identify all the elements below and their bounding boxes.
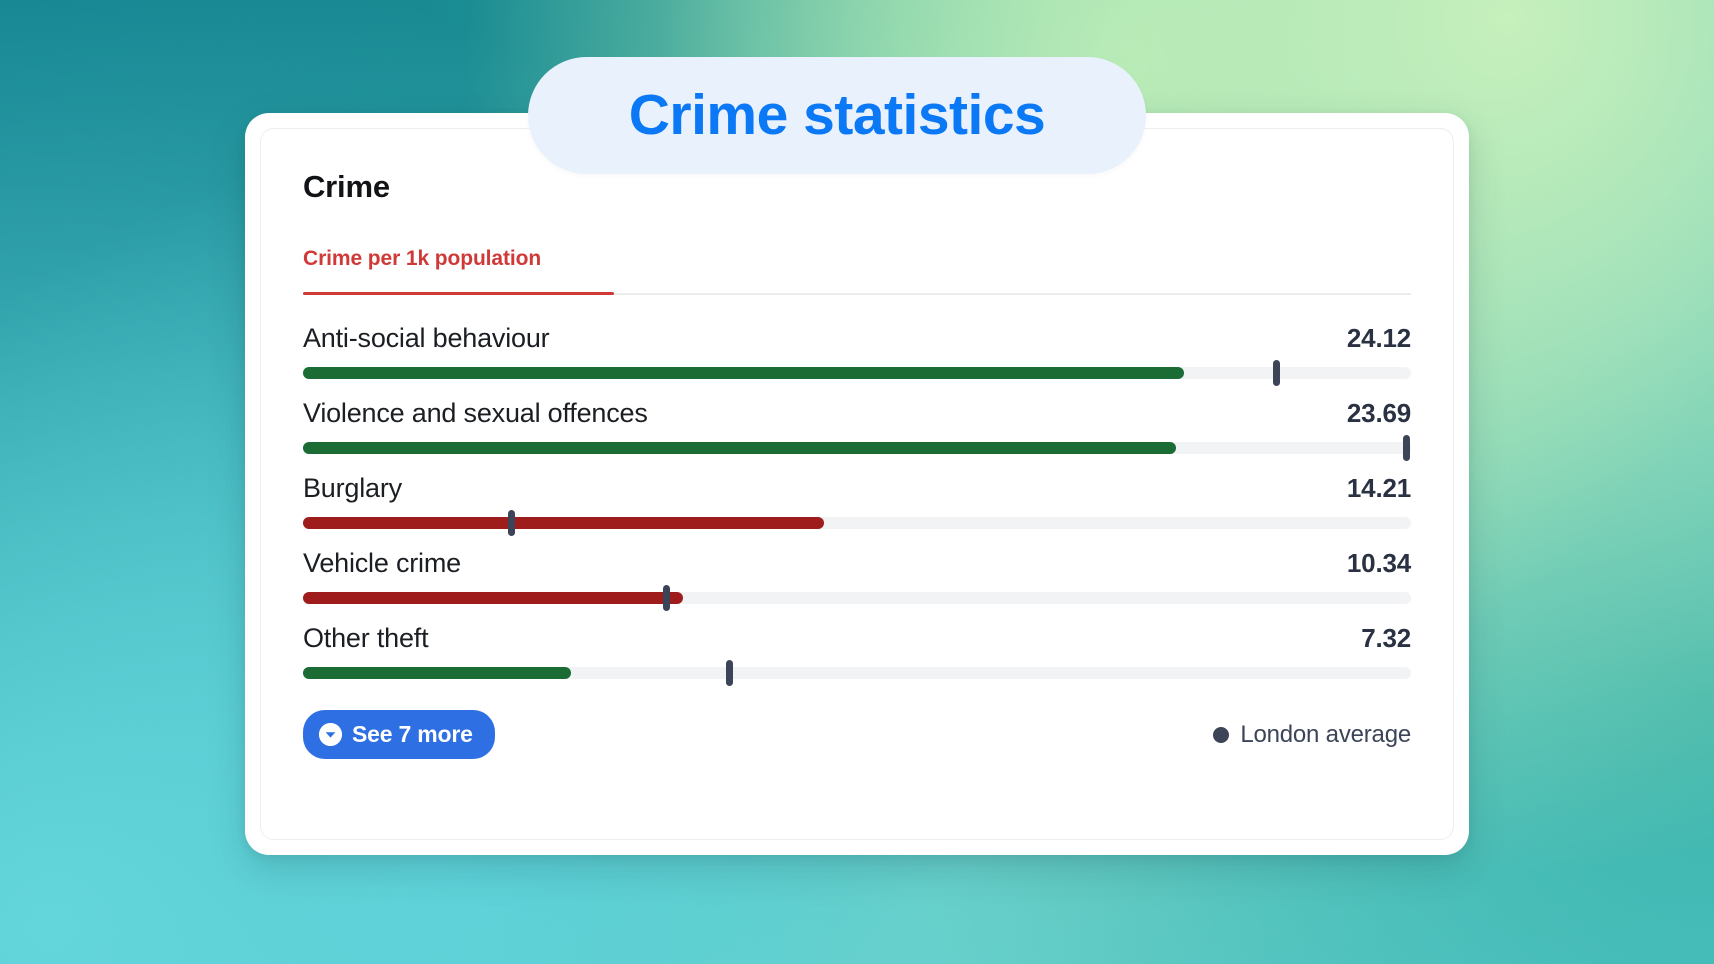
bar-fill xyxy=(303,517,824,529)
london-average-marker xyxy=(1273,360,1280,386)
crime-row-violence-and-sexual-offences: Violence and sexual offences 23.69 xyxy=(303,398,1411,459)
crime-row-value: 10.34 xyxy=(1347,548,1411,579)
crime-row-bar xyxy=(303,437,1411,459)
bar-fill xyxy=(303,667,571,679)
crime-row-label: Other theft xyxy=(303,623,428,654)
bar-track xyxy=(303,517,1411,529)
tab-crime-per-1k[interactable]: Crime per 1k population xyxy=(303,247,541,287)
crime-row-value: 14.21 xyxy=(1347,473,1411,504)
crime-row-value: 24.12 xyxy=(1347,323,1411,354)
london-average-marker xyxy=(1403,435,1410,461)
crime-row-label: Anti-social behaviour xyxy=(303,323,549,354)
crime-row-header: Vehicle crime 10.34 xyxy=(303,548,1411,579)
crime-row-bar xyxy=(303,512,1411,534)
tab-active-underline xyxy=(303,292,614,295)
page-background: Crime Crime per 1k population Anti-socia… xyxy=(0,0,1714,964)
crime-row-bar xyxy=(303,587,1411,609)
crime-row-burglary: Burglary 14.21 xyxy=(303,473,1411,534)
page-title: Crime xyxy=(303,169,1411,205)
bar-track xyxy=(303,367,1411,379)
crime-row-vehicle-crime: Vehicle crime 10.34 xyxy=(303,548,1411,609)
crime-row-header: Violence and sexual offences 23.69 xyxy=(303,398,1411,429)
legend: London average xyxy=(1213,721,1411,749)
tab-bar: Crime per 1k population xyxy=(303,247,1411,295)
see-more-label: See 7 more xyxy=(352,721,473,748)
legend-dot-icon xyxy=(1213,727,1229,743)
bar-fill xyxy=(303,592,683,604)
crime-row-value: 23.69 xyxy=(1347,398,1411,429)
crime-card-content: Crime Crime per 1k population Anti-socia… xyxy=(303,169,1411,819)
crime-row-header: Other theft 7.32 xyxy=(303,623,1411,654)
bar-fill xyxy=(303,442,1176,454)
london-average-marker xyxy=(508,510,515,536)
crime-row-other-theft: Other theft 7.32 xyxy=(303,623,1411,684)
bar-track xyxy=(303,667,1411,679)
bar-fill xyxy=(303,367,1184,379)
crime-row-label: Burglary xyxy=(303,473,402,504)
crime-row-label: Vehicle crime xyxy=(303,548,461,579)
crime-row-bar xyxy=(303,662,1411,684)
crime-row-label: Violence and sexual offences xyxy=(303,398,648,429)
see-more-button[interactable]: See 7 more xyxy=(303,710,495,759)
crime-card-inner-frame: Crime Crime per 1k population Anti-socia… xyxy=(260,128,1454,840)
crime-row-header: Anti-social behaviour 24.12 xyxy=(303,323,1411,354)
bar-track xyxy=(303,442,1411,454)
legend-label: London average xyxy=(1240,721,1411,749)
crime-statistics-badge-label: Crime statistics xyxy=(629,87,1046,144)
london-average-marker xyxy=(663,585,670,611)
crime-statistics-badge: Crime statistics xyxy=(528,57,1146,174)
crime-card: Crime Crime per 1k population Anti-socia… xyxy=(245,113,1469,855)
london-average-marker xyxy=(726,660,733,686)
crime-row-anti-social-behaviour: Anti-social behaviour 24.12 xyxy=(303,323,1411,384)
crime-row-value: 7.32 xyxy=(1361,623,1411,654)
crime-row-bar xyxy=(303,362,1411,384)
crime-row-header: Burglary 14.21 xyxy=(303,473,1411,504)
card-footer: See 7 more London average xyxy=(303,710,1411,759)
crime-rows: Anti-social behaviour 24.12 xyxy=(303,323,1411,684)
circle-chevron-down-icon xyxy=(319,723,342,746)
bar-track xyxy=(303,592,1411,604)
